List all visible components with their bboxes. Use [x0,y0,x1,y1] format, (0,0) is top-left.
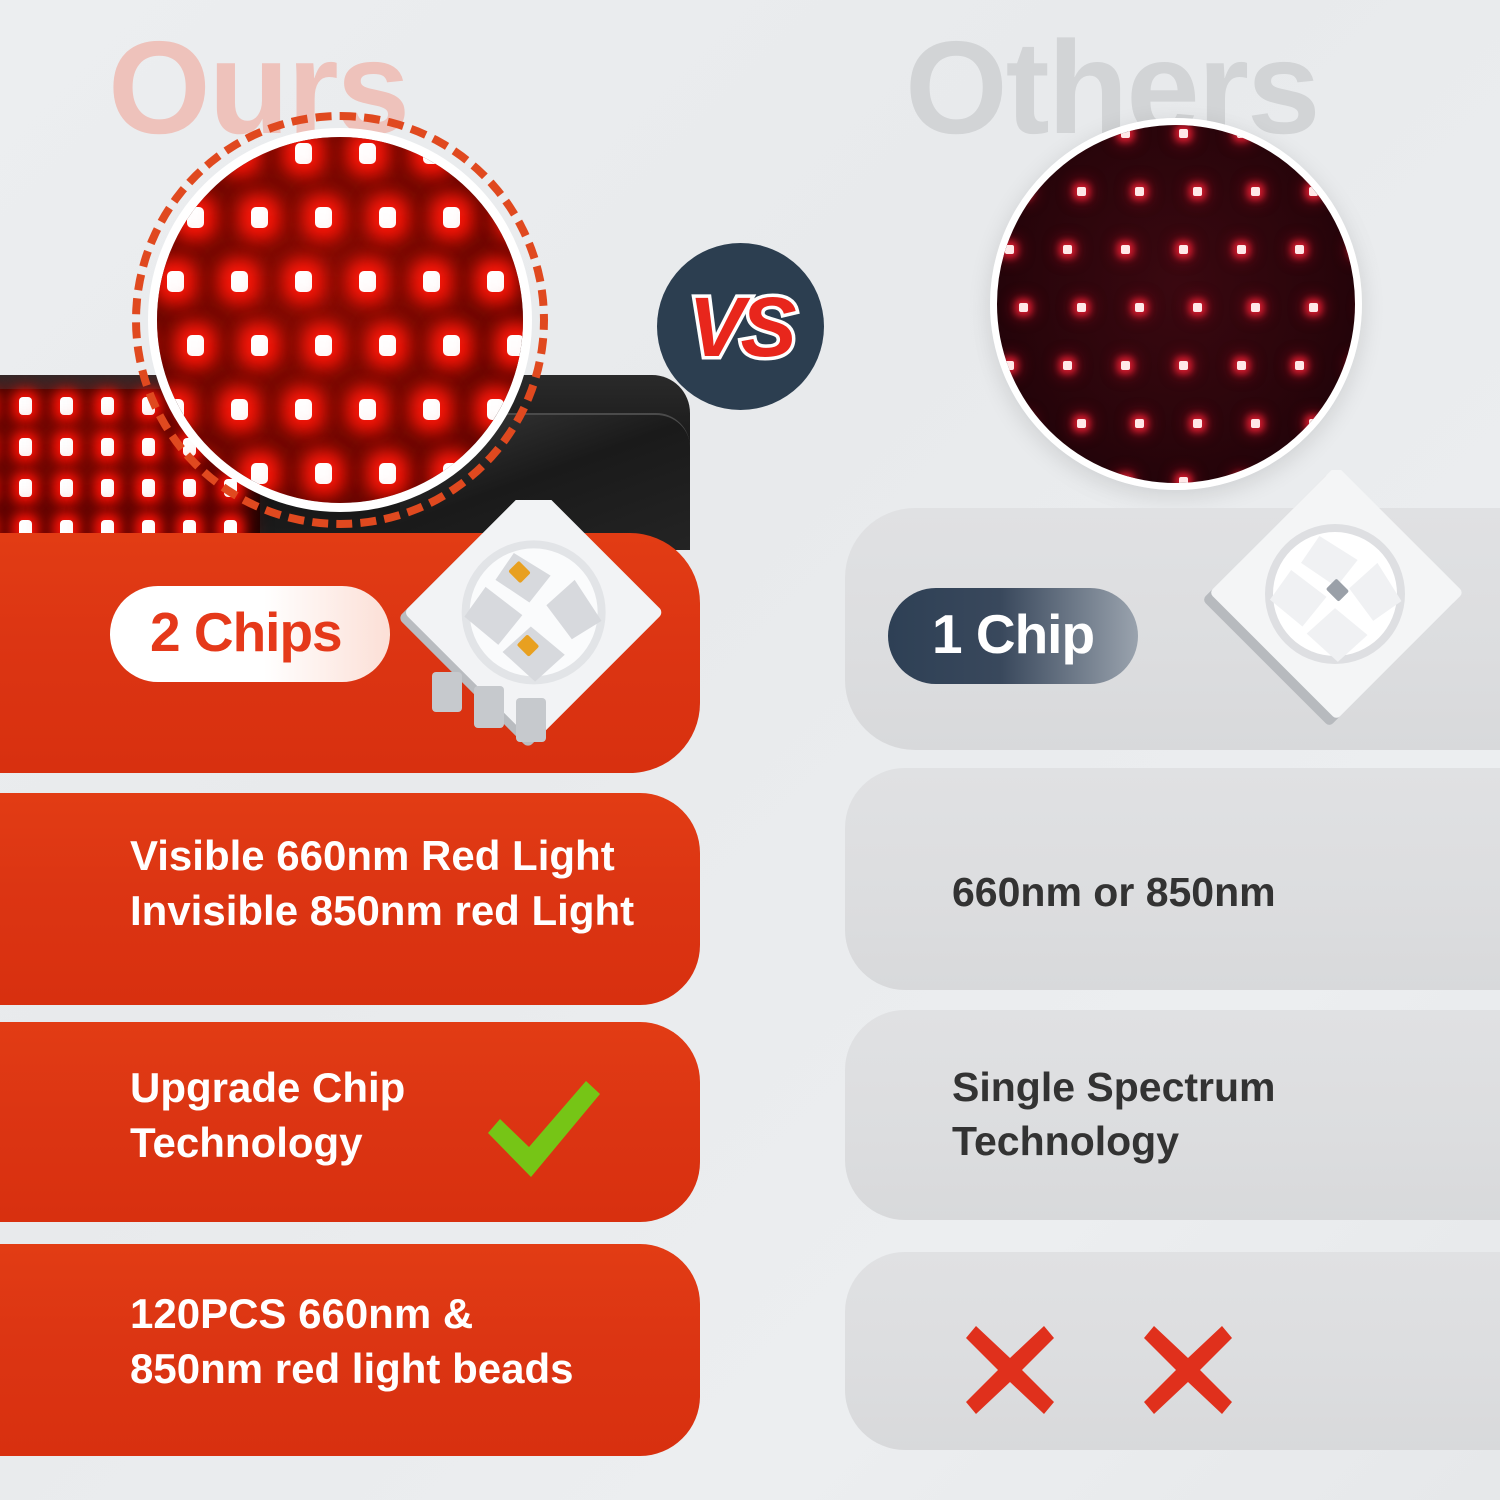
led-dot [187,207,204,228]
led-dot [1309,419,1318,428]
ours-technology-text: Upgrade Chip Technology [130,1060,405,1171]
led-dot [1135,187,1144,196]
led-dot [19,479,32,497]
led-dot [1295,245,1304,254]
led-dot [423,399,440,420]
led-dot [1179,129,1188,138]
led-dot [295,143,312,164]
led-dot [1237,129,1246,138]
led-dot [1121,361,1130,370]
vs-label: VS [688,285,792,369]
led-dot [1251,187,1260,196]
comparison-infographic: Ours Others VS [0,0,1500,1500]
led-dot [315,463,332,484]
ours-led-closeup [140,120,540,520]
led-dot [1063,361,1072,370]
led-dot [187,335,204,356]
led-dot [1295,129,1304,138]
cross-icon [962,1322,1058,1418]
led-dot [295,399,312,420]
led-dot [443,463,460,484]
led-dot [101,479,114,497]
led-chip-two-die-icon [378,500,678,750]
led-dot [167,143,184,164]
led-dot [1077,187,1086,196]
led-dot [101,397,114,415]
led-dot [1237,361,1246,370]
led-dot [1309,187,1318,196]
others-led-closeup [990,118,1362,490]
led-dot [1193,187,1202,196]
led-dot [1353,129,1362,138]
led-dot [101,438,114,456]
led-dot [487,271,504,292]
led-dot [359,143,376,164]
led-dot [359,271,376,292]
check-icon [482,1075,604,1185]
led-dot [60,438,73,456]
ours-beadcount-text: 120PCS 660nm & 850nm red light beads [130,1286,573,1397]
led-dot [167,271,184,292]
led-dot [423,271,440,292]
led-dot [507,207,524,228]
led-dot [1193,419,1202,428]
led-dot [295,271,312,292]
led-dot [1135,303,1144,312]
led-dot [315,207,332,228]
led-dot [1005,361,1014,370]
ours-led-circle [148,128,532,512]
led-dot [1179,245,1188,254]
led-dot [423,143,440,164]
led-dot [443,335,460,356]
led-dot [379,207,396,228]
led-dot [359,399,376,420]
led-dot [443,207,460,228]
led-dot [1005,245,1014,254]
led-dot [60,397,73,415]
led-dot [507,335,524,356]
led-dot [1353,361,1362,370]
led-dot [19,397,32,415]
led-dot [231,143,248,164]
led-dot [1251,419,1260,428]
led-dot [1005,477,1014,486]
led-dot [251,335,268,356]
led-dot [1121,477,1130,486]
led-dot [1237,245,1246,254]
led-dot [1121,129,1130,138]
led-dot [1005,129,1014,138]
led-dot [1295,361,1304,370]
led-dot [1063,129,1072,138]
others-wavelength-text: 660nm or 850nm [952,865,1276,919]
led-dot [187,463,204,484]
led-dot [1019,419,1028,428]
led-dot [1063,477,1072,486]
led-dot [1121,245,1130,254]
ours-wavelength-text: Visible 660nm Red Light Invisible 850nm … [130,828,634,939]
led-dot [167,399,184,420]
led-dot [1019,303,1028,312]
cross-icon [1140,1322,1236,1418]
led-dot [315,335,332,356]
led-dot [251,207,268,228]
led-dot [379,463,396,484]
led-dot [1251,303,1260,312]
led-dot [1077,419,1086,428]
others-technology-text: Single Spectrum Technology [952,1060,1276,1168]
led-dot [231,271,248,292]
led-dot [1135,419,1144,428]
led-dot [1193,303,1202,312]
led-dot [1019,187,1028,196]
led-dot [60,479,73,497]
badge-two-chips: 2 Chips [110,586,390,682]
led-dot [231,399,248,420]
led-dot [487,143,504,164]
badge-one-chip: 1 Chip [888,588,1138,684]
led-dot [1179,361,1188,370]
led-dot [1353,245,1362,254]
led-dot [1309,303,1318,312]
led-dot [19,438,32,456]
led-chip-one-die-icon [1185,470,1485,730]
led-dot [1077,303,1086,312]
led-dot [487,399,504,420]
led-dot [507,463,524,484]
led-dot [1063,245,1072,254]
vs-badge: VS [657,243,824,410]
led-dot [379,335,396,356]
led-dot [251,463,268,484]
